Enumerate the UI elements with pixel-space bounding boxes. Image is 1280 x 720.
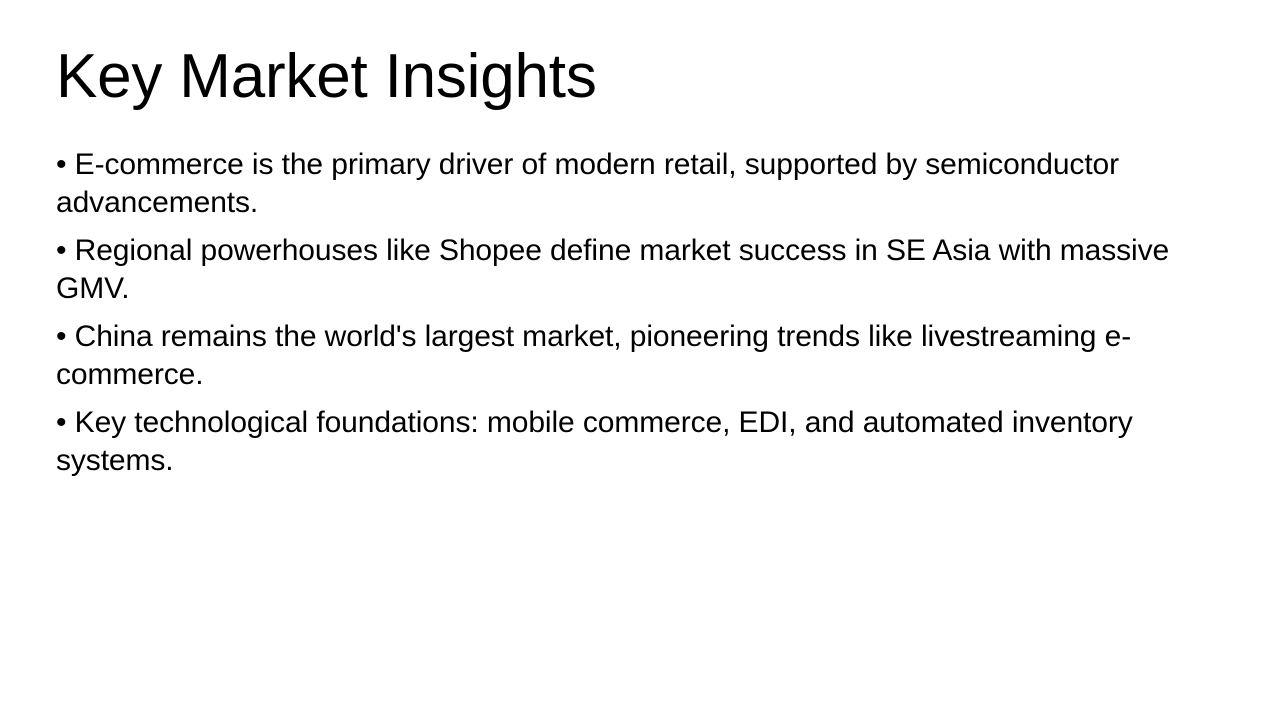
bullet-point-icon: • [56,148,66,181]
list-item-text: Regional powerhouses like Shopee define … [56,234,1169,305]
list-item: • Key technological foundations: mobile … [56,404,1228,480]
list-item: • E-commerce is the primary driver of mo… [56,146,1228,222]
list-item-text: E-commerce is the primary driver of mode… [56,148,1119,219]
bullet-list: • E-commerce is the primary driver of mo… [56,146,1228,480]
bullet-point-icon: • [56,234,66,267]
page-title: Key Market Insights [56,44,1224,111]
presentation-slide: Key Market Insights • E-commerce is the … [0,0,1280,720]
list-item: • Regional powerhouses like Shopee defin… [56,232,1228,308]
list-item: • China remains the world's largest mark… [56,318,1228,394]
bullet-point-icon: • [56,320,66,353]
list-item-text: Key technological foundations: mobile co… [56,406,1133,477]
list-item-text: China remains the world's largest market… [56,320,1131,391]
bullet-point-icon: • [56,406,66,439]
